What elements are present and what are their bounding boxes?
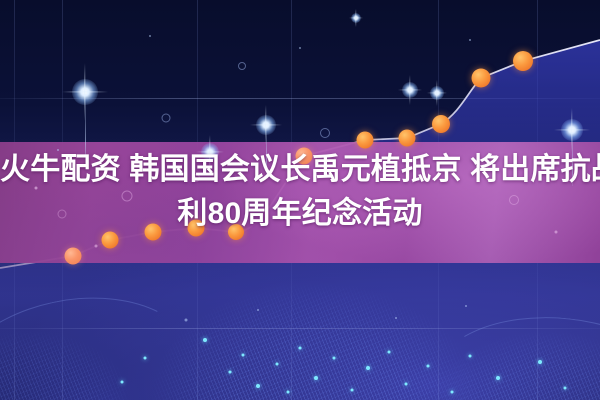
chart-point — [513, 51, 533, 71]
headline: 火牛配资 韩国国会议长禹元植抵京 将出席抗战胜 利80周年纪念活动 — [0, 148, 600, 236]
chart-point — [399, 130, 416, 147]
chart-point — [432, 115, 450, 133]
headline-line-1: 火牛配资 韩国国会议长禹元植抵京 将出席抗战胜 — [0, 148, 600, 192]
chart-point — [357, 132, 374, 149]
promo-banner: 火牛配资 韩国国会议长禹元植抵京 将出席抗战胜 利80周年纪念活动 — [0, 0, 600, 400]
chart-point — [65, 248, 82, 265]
chart-point — [472, 69, 491, 88]
headline-line-2: 利80周年纪念活动 — [0, 192, 600, 236]
